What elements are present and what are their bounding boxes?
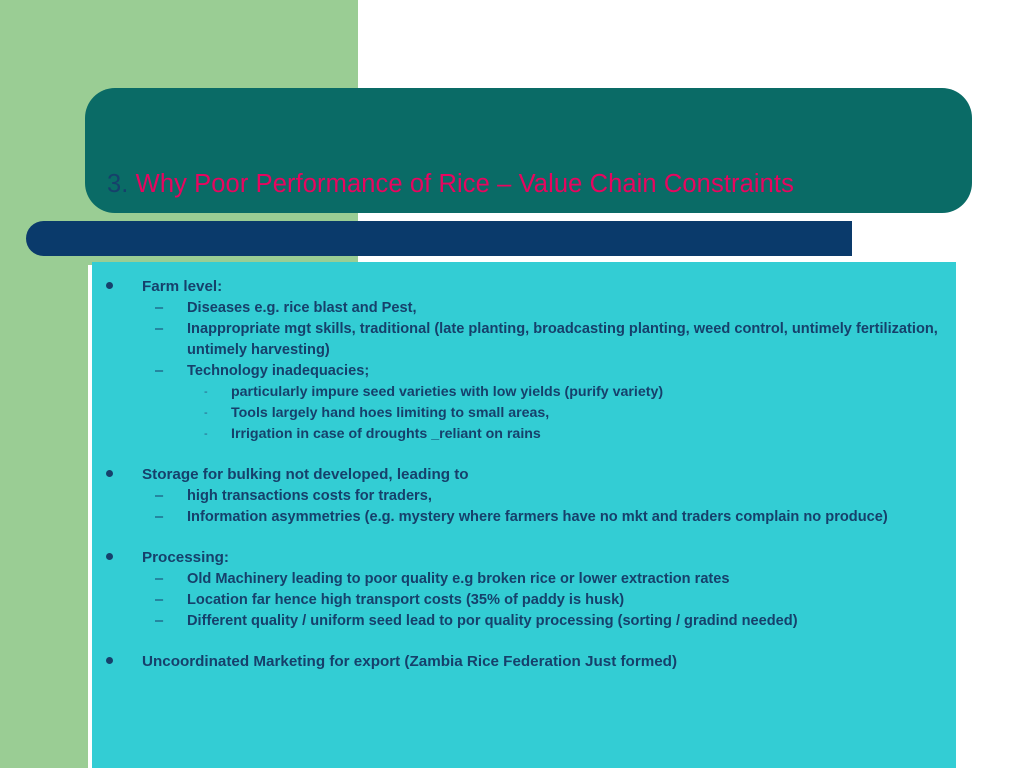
bullet-item-level-2: –high transactions costs for traders, (92, 486, 956, 507)
bullet-item-level-1: Processing: (92, 547, 956, 569)
bullet-spacer (92, 528, 956, 547)
bullet-text: Storage for bulking not developed, leadi… (142, 466, 469, 483)
bullet-dash-icon: – (155, 590, 163, 611)
bullet-item-level-2: –Information asymmetries (e.g. mystery w… (92, 507, 956, 528)
bullet-text: particularly impure seed varieties with … (231, 384, 663, 400)
bullet-dash-icon: – (155, 319, 163, 340)
bullet-text: Old Machinery leading to poor quality e.… (187, 571, 730, 587)
bullet-text: Inappropriate mgt skills, traditional (l… (187, 321, 938, 358)
title-number: 3. (107, 170, 128, 198)
bullet-text: Technology inadequacies; (187, 363, 369, 379)
bullet-dash-icon: – (155, 361, 163, 382)
bullet-item-level-3: -particularly impure seed varieties with… (92, 382, 956, 403)
bullet-text: Processing: (142, 549, 229, 566)
bullet-text: Information asymmetries (e.g. mystery wh… (187, 509, 888, 525)
bullet-list: Farm level:–Diseases e.g. rice blast and… (92, 276, 956, 673)
page-title: 3. Why Poor Performance of Rice – Value … (107, 168, 794, 200)
bullet-dot-shape (106, 470, 113, 477)
bullet-dot-shape (106, 657, 113, 664)
bullet-dot-icon (106, 547, 113, 569)
green-accent-bar-left (0, 0, 88, 768)
bullet-dot-icon (106, 276, 113, 298)
bullet-item-level-2: –Inappropriate mgt skills, traditional (… (92, 319, 956, 361)
bullet-hyphen-icon: - (204, 381, 208, 403)
slide-body: Farm level:–Diseases e.g. rice blast and… (92, 262, 956, 768)
bullet-dot-shape (106, 282, 113, 289)
bullet-text: high transactions costs for traders, (187, 488, 432, 504)
bullet-text: Irrigation in case of droughts _reliant … (231, 426, 541, 442)
bullet-dash-icon: – (155, 507, 163, 528)
bullet-item-level-1: Uncoordinated Marketing for export (Zamb… (92, 651, 956, 673)
bullet-item-level-1: Farm level: (92, 276, 956, 298)
bullet-dot-icon (106, 651, 113, 673)
bullet-text: Diseases e.g. rice blast and Pest, (187, 300, 417, 316)
bullet-dot-shape (106, 553, 113, 560)
bullet-item-level-2: –Technology inadequacies; (92, 361, 956, 382)
bullet-text: Tools largely hand hoes limiting to smal… (231, 405, 549, 421)
bullet-text: Farm level: (142, 278, 222, 295)
bullet-item-level-3: -Irrigation in case of droughts _reliant… (92, 424, 956, 445)
bullet-dash-icon: – (155, 611, 163, 632)
bullet-dash-icon: – (155, 298, 163, 319)
bullet-dash-icon: – (155, 486, 163, 507)
bullet-item-level-3: -Tools largely hand hoes limiting to sma… (92, 403, 956, 424)
bullet-spacer (92, 445, 956, 464)
bullet-item-level-2: –Location far hence high transport costs… (92, 590, 956, 611)
bullet-spacer (92, 632, 956, 651)
bullet-text: Different quality / uniform seed lead to… (187, 613, 798, 629)
bullet-item-level-1: Storage for bulking not developed, leadi… (92, 464, 956, 486)
navy-accent-bar (26, 221, 852, 256)
bullet-dot-icon (106, 464, 113, 486)
bullet-hyphen-icon: - (204, 423, 208, 445)
bullet-text: Uncoordinated Marketing for export (Zamb… (142, 653, 677, 670)
bullet-text: Location far hence high transport costs … (187, 592, 624, 608)
bullet-item-level-2: –Diseases e.g. rice blast and Pest, (92, 298, 956, 319)
presentation-slide: 3. Why Poor Performance of Rice – Value … (0, 0, 1024, 768)
bullet-dash-icon: – (155, 569, 163, 590)
bullet-hyphen-icon: - (204, 402, 208, 424)
title-main-text: Why Poor Performance of Rice – Value Cha… (136, 170, 794, 198)
bullet-item-level-2: –Old Machinery leading to poor quality e… (92, 569, 956, 590)
bullet-item-level-2: –Different quality / uniform seed lead t… (92, 611, 956, 632)
